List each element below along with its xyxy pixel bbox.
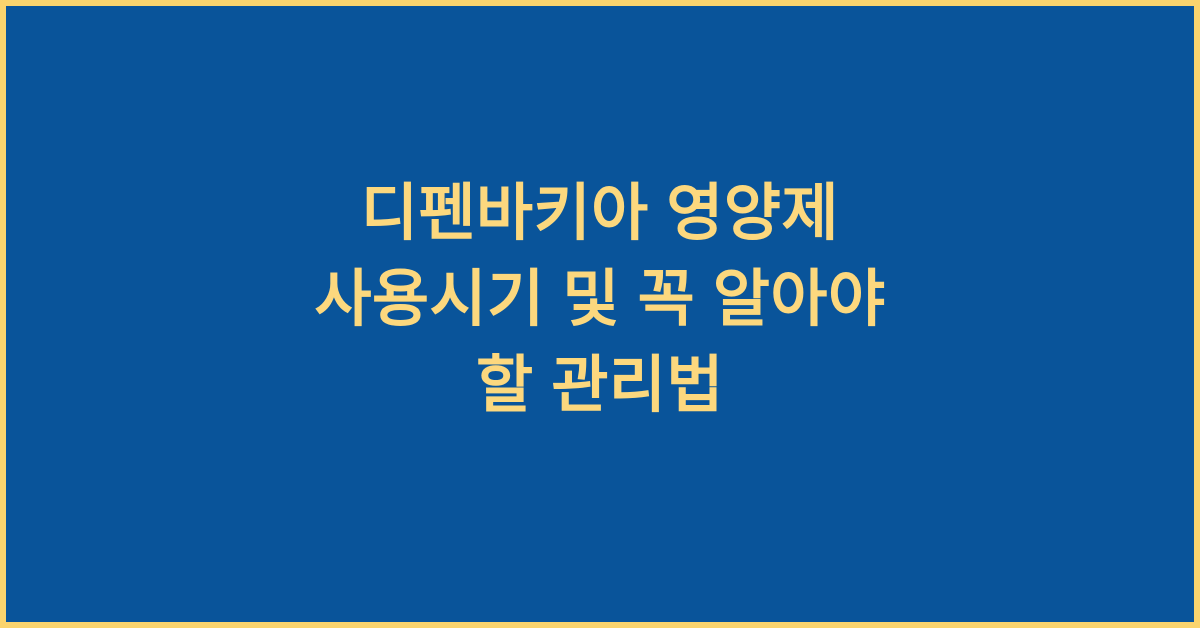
page-title-line-1: 디펜바키아 영양제	[70, 171, 1130, 257]
page-title: 디펜바키아 영양제 사용시기 및 꼭 알아야 할 관리법	[0, 171, 1200, 429]
thumbnail-card: 디펜바키아 영양제 사용시기 및 꼭 알아야 할 관리법	[0, 0, 1200, 628]
page-title-line-2: 사용시기 및 꼭 알아야	[70, 257, 1130, 343]
page-title-line-3: 할 관리법	[70, 343, 1130, 429]
